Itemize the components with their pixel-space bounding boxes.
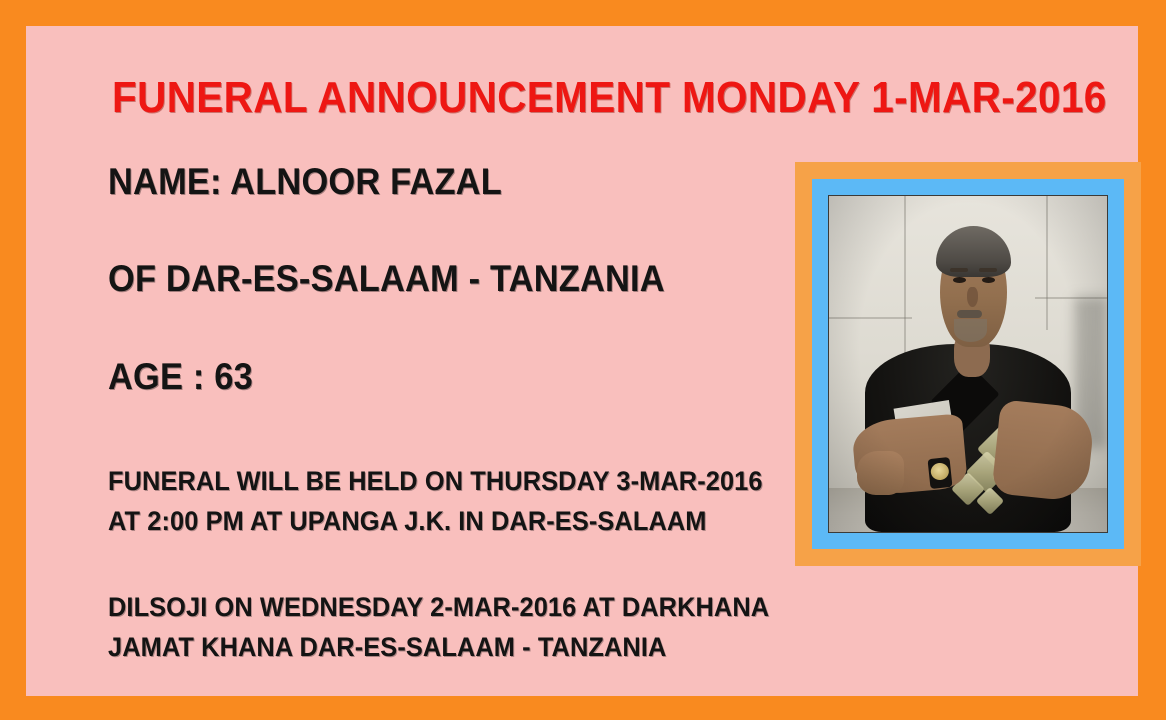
funeral-details-line-2: AT 2:00 PM AT UPANGA J.K. IN DAR-ES-SALA… — [108, 501, 728, 541]
dilsoji-details-paragraph: DILSOJI ON WEDNESDAY 2-MAR-2016 AT DARKH… — [108, 587, 728, 667]
page-title: FUNERAL ANNOUNCEMENT MONDAY 1-MAR-2016 — [112, 73, 1032, 123]
photo-vignette — [829, 196, 1107, 532]
poster-panel: FUNERAL ANNOUNCEMENT MONDAY 1-MAR-2016 N… — [26, 26, 1138, 696]
portrait-photo-frame-inner — [812, 179, 1124, 549]
dilsoji-details-line-2: JAMAT KHANA DAR-ES-SALAAM - TANZANIA — [108, 627, 728, 667]
funeral-announcement-poster: FUNERAL ANNOUNCEMENT MONDAY 1-MAR-2016 N… — [0, 0, 1166, 720]
portrait-photo — [828, 195, 1108, 533]
funeral-details-line-1: FUNERAL WILL BE HELD ON THURSDAY 3-MAR-2… — [108, 461, 728, 501]
announcement-text-column: NAME: ALNOOR FAZAL OF DAR-ES-SALAAM - TA… — [108, 162, 768, 667]
funeral-details-paragraph: FUNERAL WILL BE HELD ON THURSDAY 3-MAR-2… — [108, 461, 728, 541]
deceased-name-line: NAME: ALNOOR FAZAL — [108, 162, 722, 202]
dilsoji-details-line-1: DILSOJI ON WEDNESDAY 2-MAR-2016 AT DARKH… — [108, 587, 728, 627]
deceased-place-line: OF DAR-ES-SALAAM - TANZANIA — [108, 259, 722, 299]
deceased-age-line: AGE : 63 — [108, 357, 722, 397]
portrait-photo-frame — [795, 162, 1141, 566]
